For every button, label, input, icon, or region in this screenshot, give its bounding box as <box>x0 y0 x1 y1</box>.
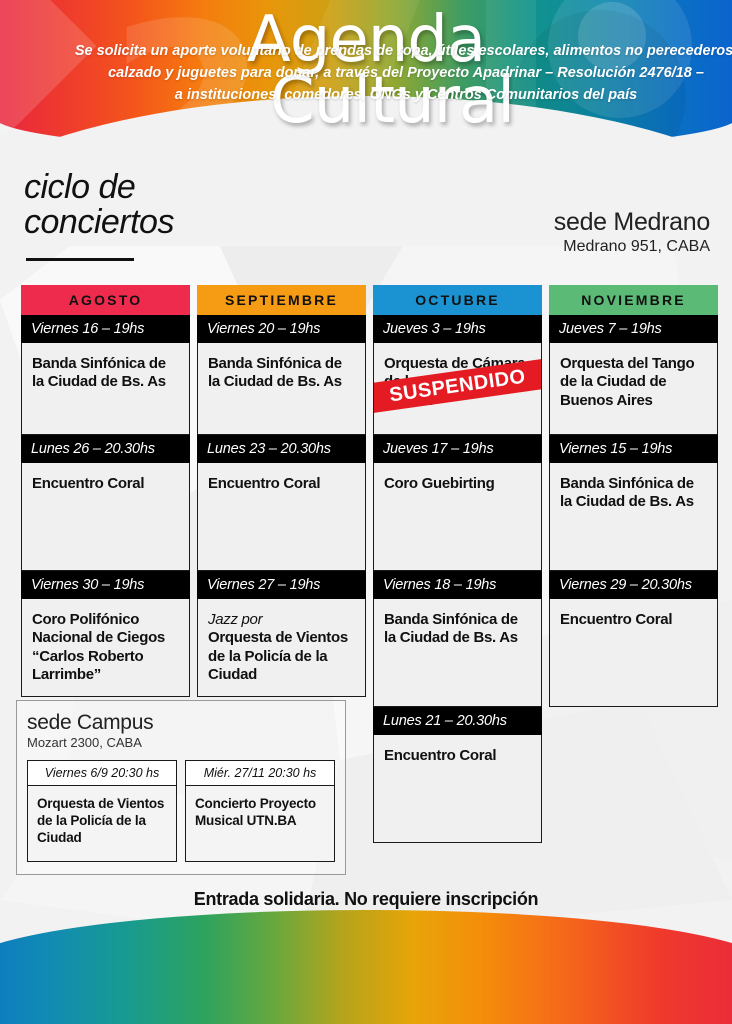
month-column-octubre: OCTUBREJueves 3 – 19hsOrquesta de Cámara… <box>373 285 542 843</box>
campus-event-card: Miér. 27/11 20:30 hsConcierto Proyecto M… <box>185 760 335 862</box>
event-title: Banda Sinfónica de la Ciudad de Bs. As <box>32 355 166 390</box>
event-date: Jueves 17 – 19hs <box>373 435 542 463</box>
event-card: Orquesta del Tango de la Ciudad de Bueno… <box>549 343 718 435</box>
month-column-septiembre: SEPTIEMBREViernes 20 – 19hsBanda Sinfóni… <box>197 285 366 697</box>
event-title: Encuentro Coral <box>560 611 672 628</box>
footer-line-3: a instituciones, comedores, ONGs y Centr… <box>40 84 732 106</box>
event-date: Jueves 3 – 19hs <box>373 315 542 343</box>
event-date: Lunes 21 – 20.30hs <box>373 707 542 735</box>
footer-text: Se solicita un aporte voluntario de pren… <box>40 40 732 106</box>
event-card: Banda Sinfónica de la Ciudad de Bs. As <box>197 343 366 435</box>
event-card: Jazz porOrquesta de Vientos de la Policí… <box>197 599 366 697</box>
event-date: Jueves 7 – 19hs <box>549 315 718 343</box>
venue-name: sede Medrano <box>554 208 710 237</box>
month-column-agosto: AGOSTOViernes 16 – 19hsBanda Sinfónica d… <box>21 285 190 697</box>
section-title-rule <box>26 258 134 261</box>
campus-event-card: Viernes 6/9 20:30 hsOrquesta de Vientos … <box>27 760 177 862</box>
footer-line-1: Se solicita un aporte voluntario de pren… <box>40 40 732 62</box>
event-card: Banda Sinfónica de la Ciudad de Bs. As <box>21 343 190 435</box>
month-header: OCTUBRE <box>373 285 542 315</box>
event-title: Encuentro Coral <box>208 475 320 492</box>
month-column-noviembre: NOVIEMBREJueves 7 – 19hsOrquesta del Tan… <box>549 285 718 707</box>
footer-line-2: calzado y juguetes para donar, a través … <box>40 62 732 84</box>
campus-event-date: Miér. 27/11 20:30 hs <box>186 761 334 786</box>
event-title: Orquesta del Tango de la Ciudad de Bueno… <box>560 355 694 409</box>
event-card: Banda Sinfónica de la Ciudad de Bs. As <box>373 599 542 707</box>
campus-event-title: Orquesta de Vientos de la Policía de la … <box>28 786 176 861</box>
campus-event-date: Viernes 6/9 20:30 hs <box>28 761 176 786</box>
campus-event-title: Concierto Proyecto Musical UTN.BA <box>186 786 334 860</box>
entrada-note: Entrada solidaria. No requiere inscripci… <box>0 889 732 910</box>
event-card: Encuentro Coral <box>549 599 718 707</box>
event-title: Coro Guebirting <box>384 475 495 492</box>
event-card: Banda Sinfónica de la Ciudad de Bs. As <box>549 463 718 571</box>
section-title-line-1: ciclo de <box>24 170 174 205</box>
event-card: Coro Polifónico Nacional de Ciegos “Carl… <box>21 599 190 697</box>
event-title: Banda Sinfónica de la Ciudad de Bs. As <box>560 475 694 510</box>
event-card: Encuentro Coral <box>21 463 190 571</box>
event-title: Encuentro Coral <box>384 747 496 764</box>
campus-section: sede Campus Mozart 2300, CABA Viernes 6/… <box>16 700 346 875</box>
month-header: SEPTIEMBRE <box>197 285 366 315</box>
event-card: Coro Guebirting <box>373 463 542 571</box>
event-date: Lunes 23 – 20.30hs <box>197 435 366 463</box>
event-card: Encuentro Coral <box>197 463 366 571</box>
event-card: Orquesta de Cámara de la Ciudad de la Ci… <box>373 343 542 435</box>
venue-medrano: sede Medrano Medrano 951, CABA <box>554 208 710 256</box>
month-header: AGOSTO <box>21 285 190 315</box>
event-prefix: Jazz por <box>208 611 357 629</box>
event-title: Banda Sinfónica de la Ciudad de Bs. As <box>384 611 518 646</box>
event-date: Viernes 29 – 20.30hs <box>549 571 718 599</box>
campus-address: Mozart 2300, CABA <box>27 735 335 750</box>
event-date: Viernes 30 – 19hs <box>21 571 190 599</box>
event-date: Viernes 27 – 19hs <box>197 571 366 599</box>
campus-card-list: Viernes 6/9 20:30 hsOrquesta de Vientos … <box>27 760 335 862</box>
event-title: Encuentro Coral <box>32 475 144 492</box>
event-date: Viernes 15 – 19hs <box>549 435 718 463</box>
section-title: ciclo de conciertos <box>24 170 174 239</box>
month-header: NOVIEMBRE <box>549 285 718 315</box>
event-title: Orquesta de Vientos de la Policía de la … <box>208 629 348 683</box>
event-card: Encuentro Coral <box>373 735 542 843</box>
event-title: Coro Polifónico Nacional de Ciegos “Carl… <box>32 611 165 683</box>
event-date: Viernes 18 – 19hs <box>373 571 542 599</box>
venue-address: Medrano 951, CABA <box>554 238 710 256</box>
event-date: Lunes 26 – 20.30hs <box>21 435 190 463</box>
poster-root: 2 Agenda Cultural ciclo de conciertos se… <box>0 0 732 1024</box>
footer-banner <box>0 910 732 1024</box>
event-title: Banda Sinfónica de la Ciudad de Bs. As <box>208 355 342 390</box>
event-date: Viernes 20 – 19hs <box>197 315 366 343</box>
section-title-line-2: conciertos <box>24 205 174 240</box>
event-date: Viernes 16 – 19hs <box>21 315 190 343</box>
campus-title: sede Campus <box>27 711 335 735</box>
